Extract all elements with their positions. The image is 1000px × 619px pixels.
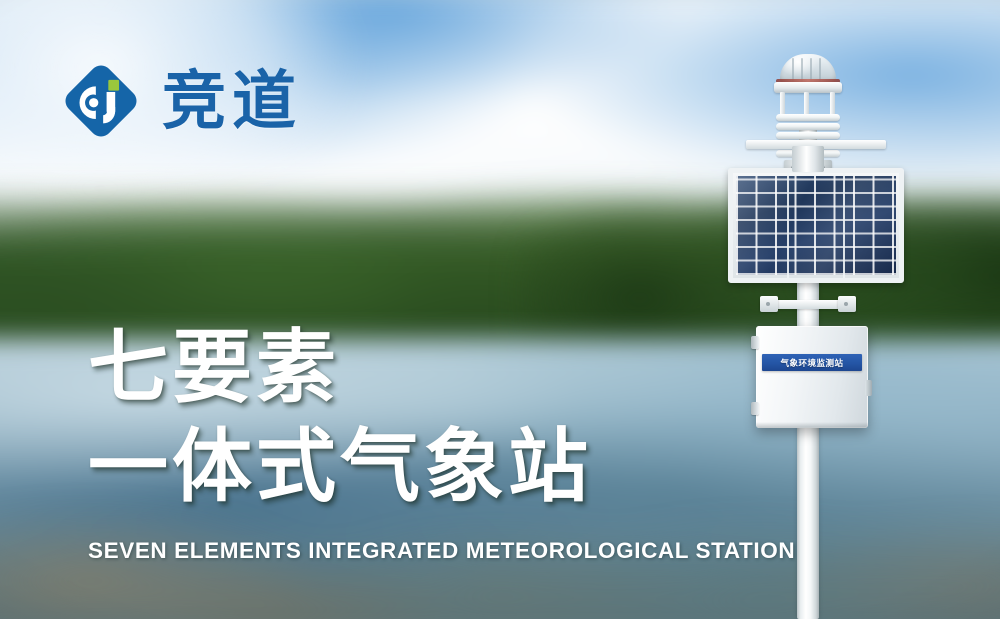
headline-line-2: 一体式气象站 — [88, 425, 592, 510]
control-enclosure: 气象环境监测站 — [756, 326, 868, 428]
enclosure-hinge-top — [751, 336, 759, 349]
headline-subtitle: SEVEN ELEMENTS INTEGRATED METEOROLOGICAL… — [88, 538, 795, 564]
enclosure-label: 气象环境监测站 — [762, 354, 862, 371]
enclosure-latch — [865, 380, 872, 396]
solar-panel-arm — [792, 146, 824, 172]
enclosure-hinge-bottom — [751, 402, 759, 415]
solar-panel-cells — [736, 176, 896, 275]
headline-line-1: 七要素 — [88, 326, 592, 411]
sensor-strut-center — [804, 92, 809, 116]
headline-block: 七要素 一体式气象站 — [88, 326, 592, 510]
bracket-clip-left — [760, 296, 778, 312]
brand-logo[interactable]: 竞道 — [58, 58, 302, 144]
brand-name: 竞道 — [162, 69, 302, 133]
weather-station-illustration: 气象环境监测站 — [700, 28, 960, 619]
banner-stage: 竞道 七要素 一体式气象站 SEVEN ELEMENTS INTEGRATED … — [0, 0, 1000, 619]
bracket-clip-right — [838, 296, 856, 312]
solar-panel — [728, 168, 904, 283]
jingdao-diamond-logo-icon — [58, 58, 144, 144]
sensor-strut-left — [780, 92, 785, 116]
sensor-strut-right — [830, 92, 835, 116]
